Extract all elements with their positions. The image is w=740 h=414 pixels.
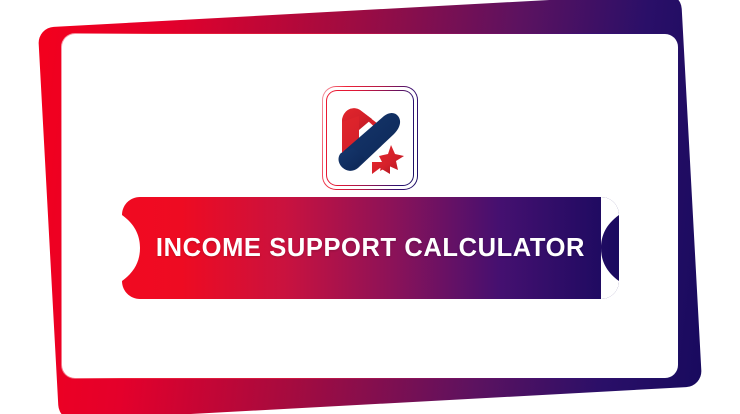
page-title: INCOME SUPPORT CALCULATOR xyxy=(122,197,619,299)
logo-mark-icon xyxy=(332,96,408,180)
screen: INCOME SUPPORT CALCULATOR xyxy=(0,0,740,414)
main-card: INCOME SUPPORT CALCULATOR xyxy=(61,33,679,379)
brand-logo xyxy=(322,86,418,190)
title-ribbon: INCOME SUPPORT CALCULATOR xyxy=(122,197,619,299)
card-content: INCOME SUPPORT CALCULATOR xyxy=(62,34,678,378)
